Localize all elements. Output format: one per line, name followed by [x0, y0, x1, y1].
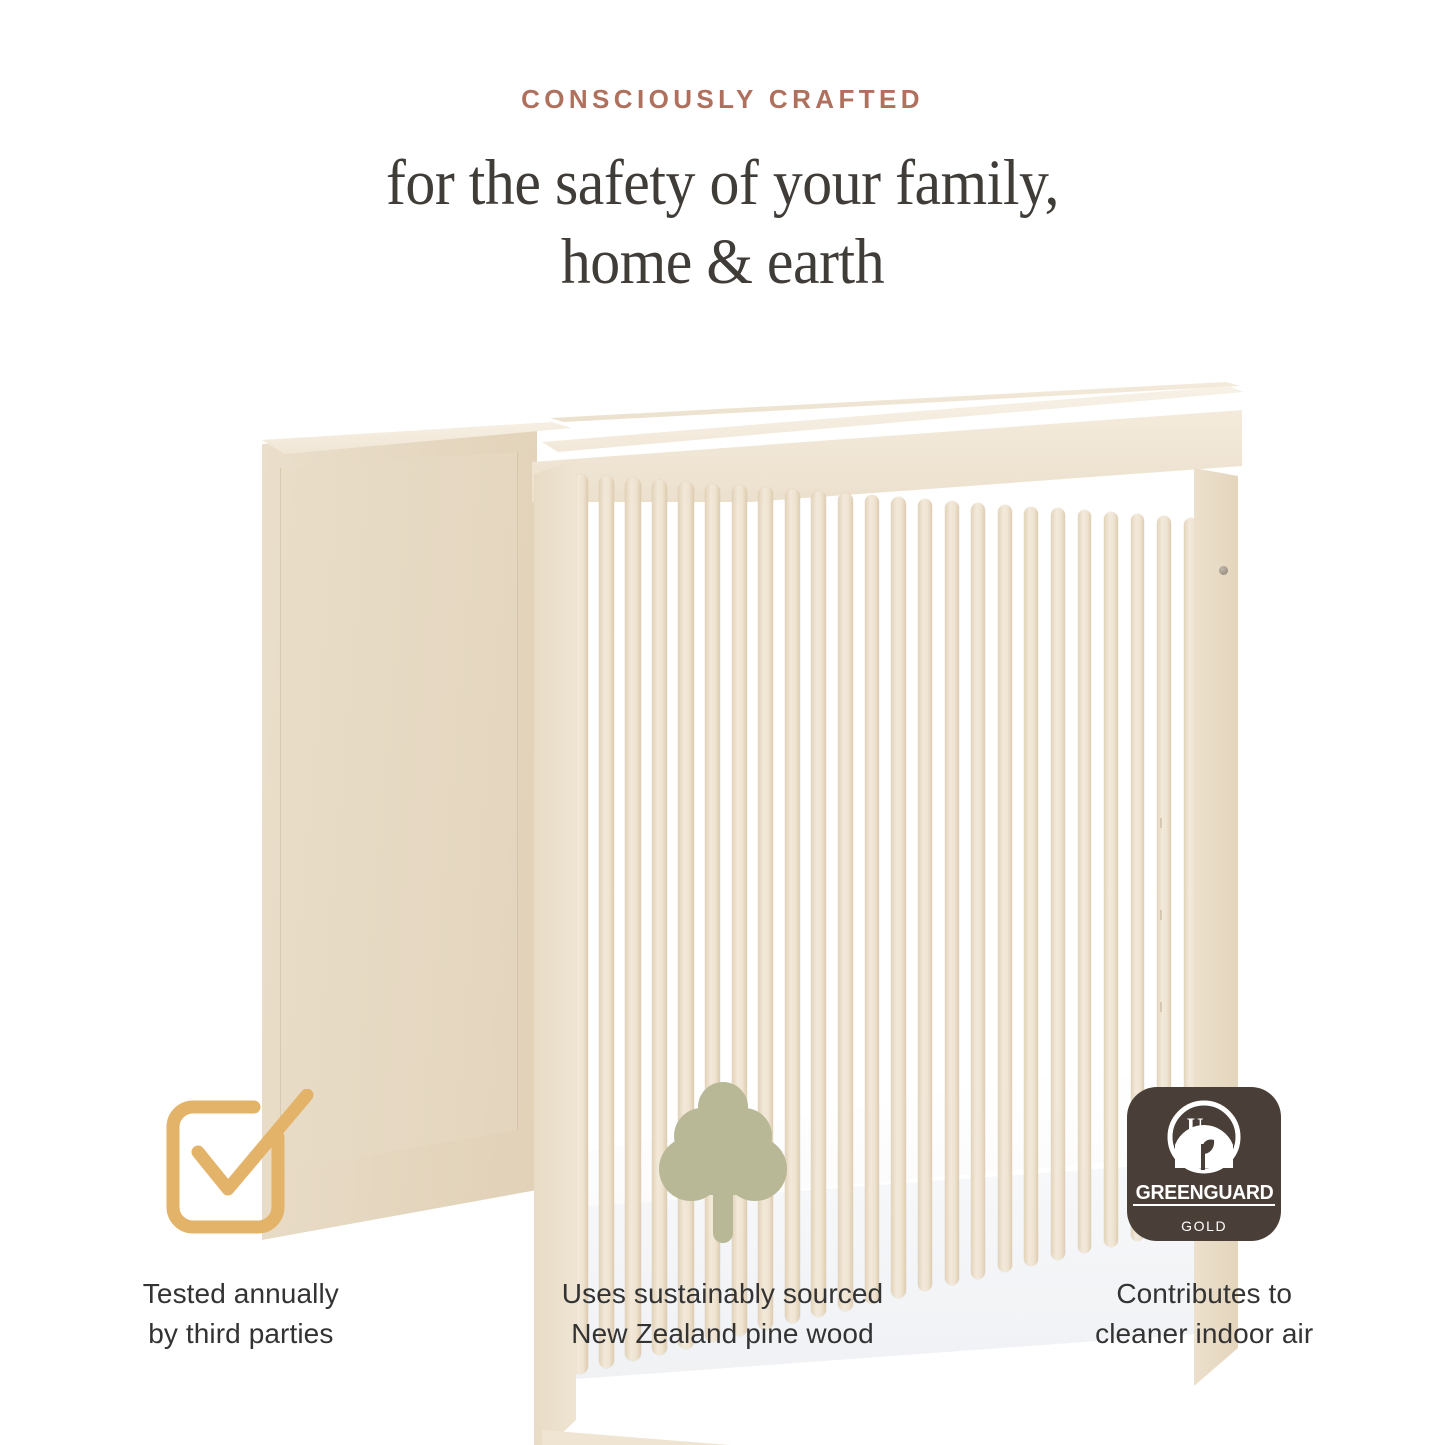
feature-tested-annually: Tested annually by third parties [0, 1078, 482, 1354]
marketing-product-panel: CONSCIOUSLY CRAFTED for the safety of yo… [0, 0, 1445, 1445]
mattress-height-notch-2 [1160, 910, 1162, 920]
svg-text:U: U [1187, 1114, 1204, 1139]
headline-line-2: home & earth [58, 223, 1387, 302]
checkbox-check-icon [157, 1089, 325, 1239]
badge-divider [1133, 1204, 1275, 1206]
tree-icon [658, 1081, 788, 1247]
caption-line-2: cleaner indoor air [1095, 1314, 1313, 1354]
feature-icon-wrapper: U L GREENGUARD GOLD [1127, 1078, 1281, 1250]
page-title: for the safety of your family, home & ea… [58, 144, 1387, 303]
caption-line-2: by third parties [143, 1314, 339, 1354]
header-block: CONSCIOUSLY CRAFTED for the safety of yo… [0, 86, 1445, 303]
product-image [0, 370, 1445, 1060]
feature-caption: Tested annually by third parties [143, 1274, 339, 1354]
feature-caption: Contributes to cleaner indoor air [1095, 1274, 1313, 1354]
eyebrow-text: CONSCIOUSLY CRAFTED [0, 86, 1445, 112]
crib-illustration [232, 370, 1222, 1060]
caption-line-1: Contributes to [1095, 1274, 1313, 1314]
feature-row: Tested annually by third parties [0, 1078, 1445, 1354]
ul-mark-icon: U L [1165, 1098, 1243, 1176]
caption-line-1: Uses sustainably sourced [562, 1274, 883, 1314]
greenguard-gold-badge-icon: U L GREENGUARD GOLD [1127, 1087, 1281, 1241]
feature-caption: Uses sustainably sourced New Zealand pin… [562, 1274, 883, 1354]
mattress-height-notch-1 [1160, 818, 1162, 828]
headline-line-1: for the safety of your family, [58, 144, 1387, 223]
badge-tier: GOLD [1127, 1218, 1281, 1234]
feature-icon-wrapper [157, 1078, 325, 1250]
hardware-screw-upper [1219, 566, 1228, 575]
feature-clean-indoor-air: U L GREENGUARD GOLD Contributes to clean… [963, 1078, 1445, 1354]
feature-sustainable-wood: Uses sustainably sourced New Zealand pin… [482, 1078, 964, 1354]
mattress-height-notch-3 [1160, 1002, 1162, 1012]
badge-name: GREENGUARD [1135, 1181, 1273, 1205]
caption-line-1: Tested annually [143, 1274, 339, 1314]
feature-icon-wrapper [658, 1078, 788, 1250]
caption-line-2: New Zealand pine wood [562, 1314, 883, 1354]
